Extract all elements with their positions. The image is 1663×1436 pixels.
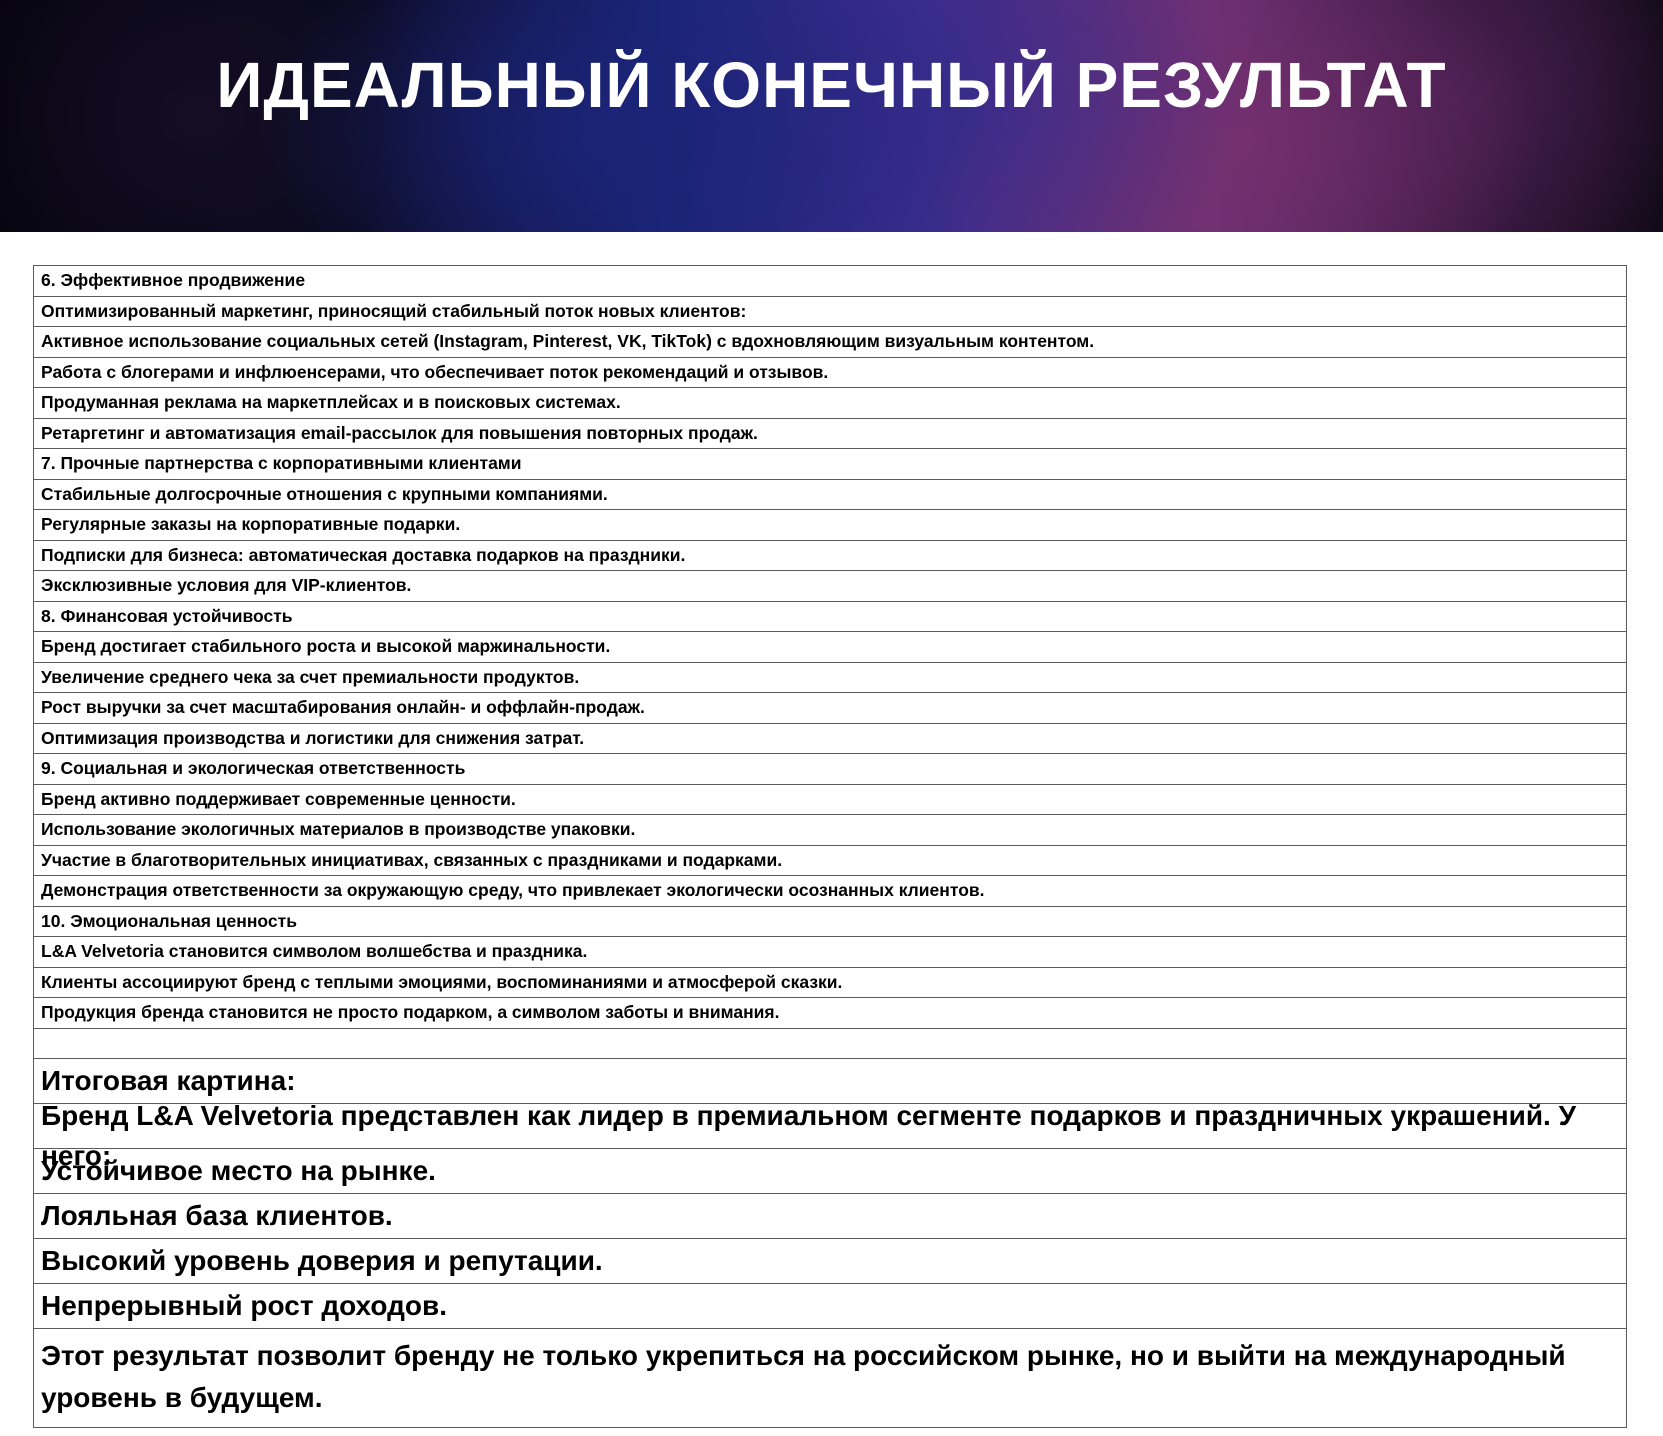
- table-row: L&A Velvetoria становится символом волше…: [34, 937, 1627, 968]
- table-row: Бренд активно поддерживает современные ц…: [34, 784, 1627, 815]
- table-row: 10. Эмоциональная ценность: [34, 906, 1627, 937]
- table-cell: Этот результат позволит бренду не только…: [34, 1328, 1627, 1427]
- title-banner: ИДЕАЛЬНЫЙ КОНЕЧНЫЙ РЕЗУЛЬТАТ: [0, 0, 1663, 232]
- table-cell: Клиенты ассоциируют бренд с теплыми эмоц…: [34, 967, 1627, 998]
- table-cell: Бренд активно поддерживает современные ц…: [34, 784, 1627, 815]
- table-cell: Работа с блогерами и инфлюенсерами, что …: [34, 357, 1627, 388]
- table-cell: Продуманная реклама на маркетплейсах и в…: [34, 388, 1627, 419]
- table-row: Эксклюзивные условия для VIP-клиентов.: [34, 571, 1627, 602]
- table-row: Активное использование социальных сетей …: [34, 327, 1627, 358]
- overflowing-summary-text: Бренд L&A Velvetoria представлен как лид…: [41, 1096, 1613, 1176]
- table-cell: 7. Прочные партнерства с корпоративными …: [34, 449, 1627, 480]
- table-row: Высокий уровень доверия и репутации.: [34, 1238, 1627, 1283]
- table-row: Работа с блогерами и инфлюенсерами, что …: [34, 357, 1627, 388]
- table-cell: Использование экологичных материалов в п…: [34, 815, 1627, 846]
- table-row: Бренд достигает стабильного роста и высо…: [34, 632, 1627, 663]
- table-row: Оптимизация производства и логистики для…: [34, 723, 1627, 754]
- table-cell: Увеличение среднего чека за счет премиал…: [34, 662, 1627, 693]
- table-row: Продукция бренда становится не просто по…: [34, 998, 1627, 1029]
- table-cell: Стабильные долгосрочные отношения с круп…: [34, 479, 1627, 510]
- table-row: Регулярные заказы на корпоративные подар…: [34, 510, 1627, 541]
- table-cell: Активное использование социальных сетей …: [34, 327, 1627, 358]
- table-row: Увеличение среднего чека за счет премиал…: [34, 662, 1627, 693]
- slide-root: ИДЕАЛЬНЫЙ КОНЕЧНЫЙ РЕЗУЛЬТАТ 6. Эффектив…: [0, 0, 1663, 1436]
- table-body: 6. Эффективное продвижениеОптимизированн…: [34, 266, 1627, 1428]
- table-cell: 8. Финансовая устойчивость: [34, 601, 1627, 632]
- table-cell: Ретаргетинг и автоматизация email-рассыл…: [34, 418, 1627, 449]
- table-row: [34, 1028, 1627, 1058]
- table-row: Продуманная реклама на маркетплейсах и в…: [34, 388, 1627, 419]
- table-row: 7. Прочные партнерства с корпоративными …: [34, 449, 1627, 480]
- table-cell: Оптимизация производства и логистики для…: [34, 723, 1627, 754]
- table-row: Использование экологичных материалов в п…: [34, 815, 1627, 846]
- table-row: Лояльная база клиентов.: [34, 1193, 1627, 1238]
- table-row: Оптимизированный маркетинг, приносящий с…: [34, 296, 1627, 327]
- table-row: Этот результат позволит бренду не только…: [34, 1328, 1627, 1427]
- table-row: 6. Эффективное продвижение: [34, 266, 1627, 297]
- table-cell: Оптимизированный маркетинг, приносящий с…: [34, 296, 1627, 327]
- table-cell: Подписки для бизнеса: автоматическая дос…: [34, 540, 1627, 571]
- page-title: ИДЕАЛЬНЫЙ КОНЕЧНЫЙ РЕЗУЛЬТАТ: [0, 52, 1663, 119]
- table-cell: Бренд достигает стабильного роста и высо…: [34, 632, 1627, 663]
- table-cell: Бренд L&A Velvetoria представлен как лид…: [34, 1103, 1627, 1148]
- table-cell: Демонстрация ответственности за окружающ…: [34, 876, 1627, 907]
- table-row: Стабильные долгосрочные отношения с круп…: [34, 479, 1627, 510]
- table-row: Подписки для бизнеса: автоматическая дос…: [34, 540, 1627, 571]
- table-row: 9. Социальная и экологическая ответствен…: [34, 754, 1627, 785]
- table-cell: 10. Эмоциональная ценность: [34, 906, 1627, 937]
- table-cell: Эксклюзивные условия для VIP-клиентов.: [34, 571, 1627, 602]
- table-row: Клиенты ассоциируют бренд с теплыми эмоц…: [34, 967, 1627, 998]
- table-row: Демонстрация ответственности за окружающ…: [34, 876, 1627, 907]
- table-cell: 9. Социальная и экологическая ответствен…: [34, 754, 1627, 785]
- table-cell: 6. Эффективное продвижение: [34, 266, 1627, 297]
- table-cell: Регулярные заказы на корпоративные подар…: [34, 510, 1627, 541]
- table-cell: Лояльная база клиентов.: [34, 1193, 1627, 1238]
- table-cell: Рост выручки за счет масштабирования онл…: [34, 693, 1627, 724]
- content-table: 6. Эффективное продвижениеОптимизированн…: [33, 265, 1627, 1428]
- table-row: Рост выручки за счет масштабирования онл…: [34, 693, 1627, 724]
- table-row: 8. Финансовая устойчивость: [34, 601, 1627, 632]
- table-cell: L&A Velvetoria становится символом волше…: [34, 937, 1627, 968]
- table-row: Бренд L&A Velvetoria представлен как лид…: [34, 1103, 1627, 1148]
- table-row: Ретаргетинг и автоматизация email-рассыл…: [34, 418, 1627, 449]
- table-cell: Высокий уровень доверия и репутации.: [34, 1238, 1627, 1283]
- table-cell: Участие в благотворительных инициативах,…: [34, 845, 1627, 876]
- table-cell: [34, 1028, 1627, 1058]
- table-row: Участие в благотворительных инициативах,…: [34, 845, 1627, 876]
- table-cell: Продукция бренда становится не просто по…: [34, 998, 1627, 1029]
- table-cell: Непрерывный рост доходов.: [34, 1283, 1627, 1328]
- table-row: Непрерывный рост доходов.: [34, 1283, 1627, 1328]
